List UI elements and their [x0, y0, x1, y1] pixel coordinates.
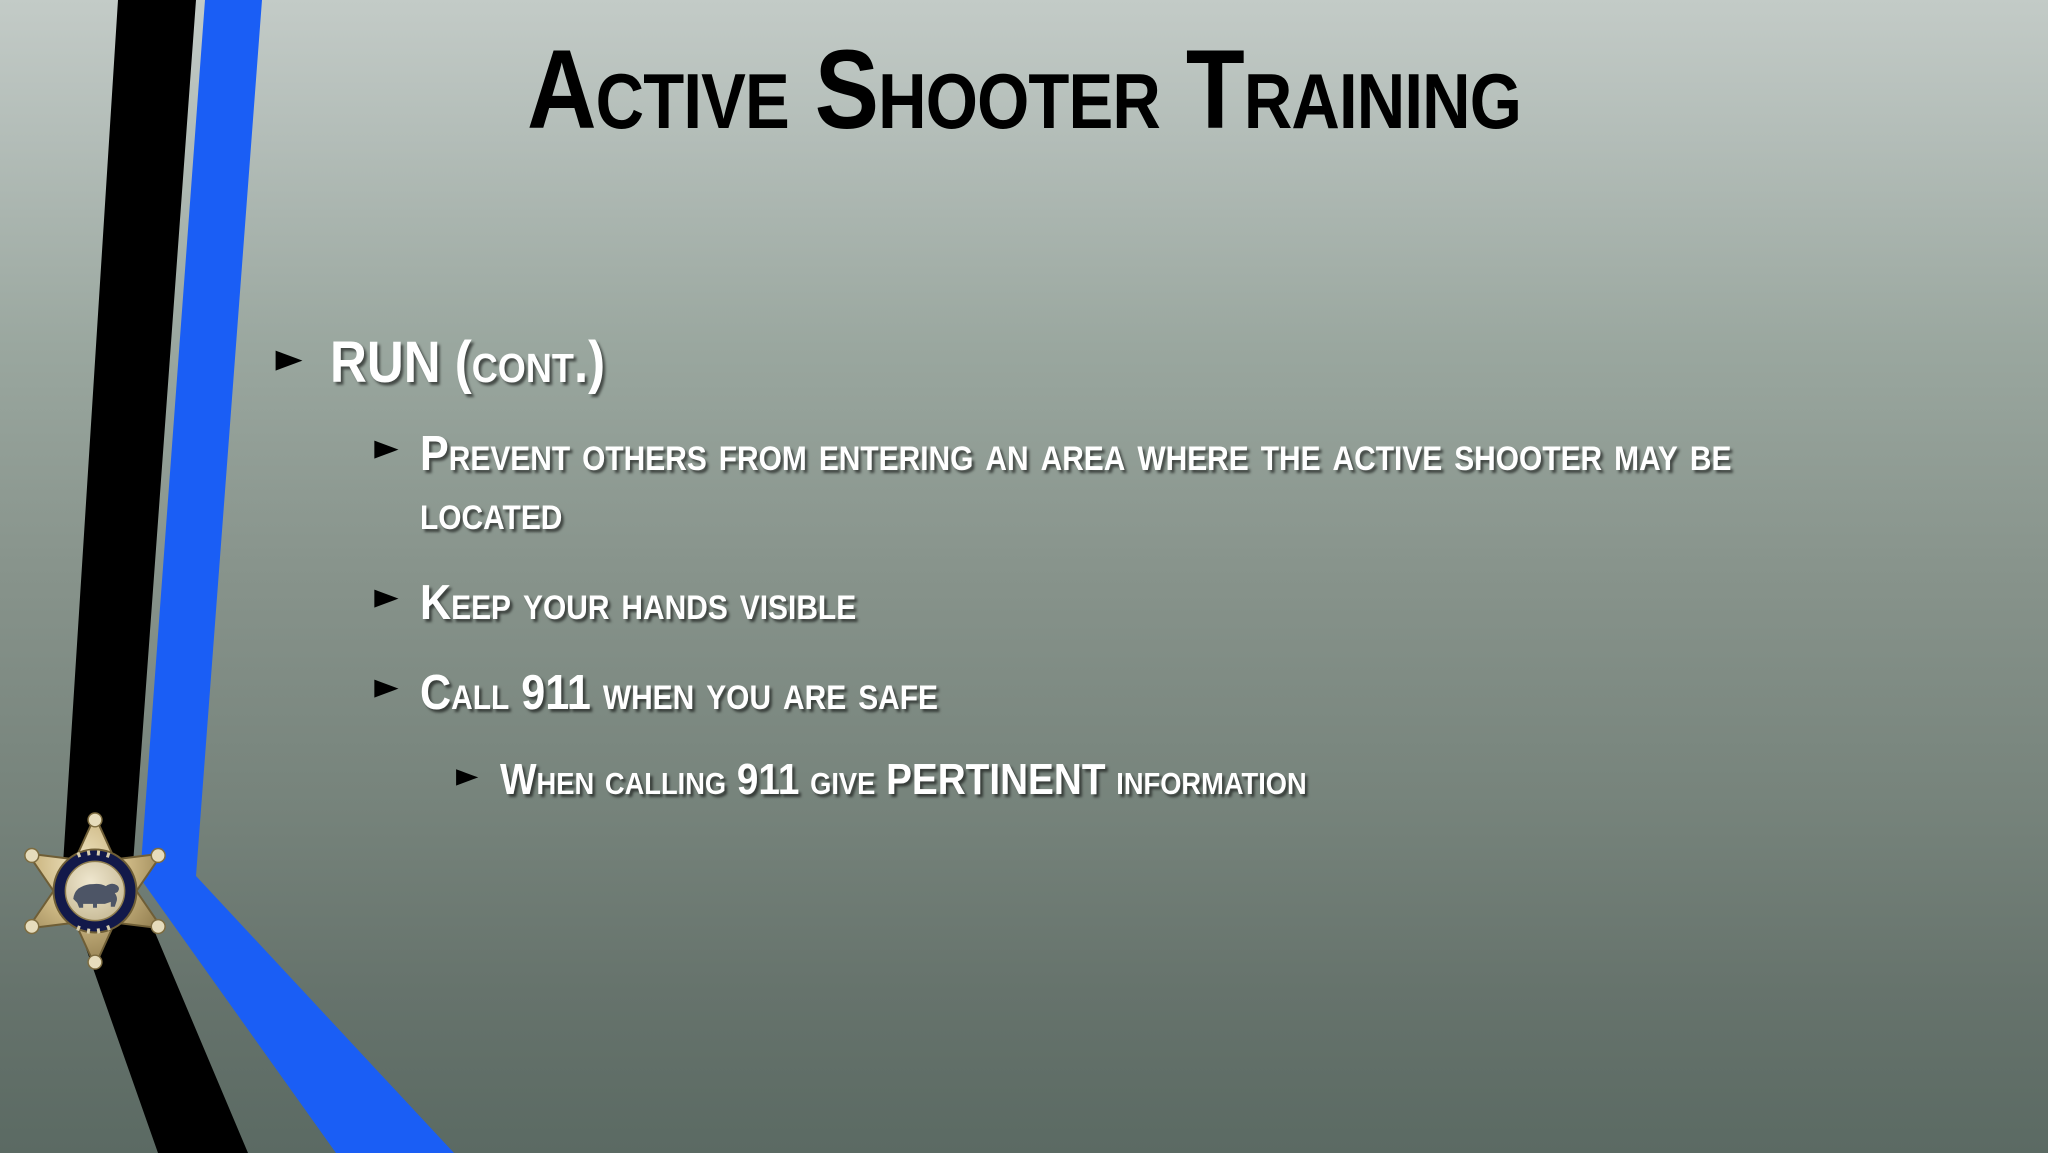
slide-canvas: Active Shooter Training ► RUN (cont.) ► … — [0, 0, 2048, 1153]
bullet-item-call-911: ► Call 911 when you are safe — [420, 664, 1793, 724]
bullet-item-pertinent-info: ► When calling 911 give PERTINENT inform… — [500, 754, 1802, 807]
bullet-list: ► RUN (cont.) ► Prevent others from ente… — [0, 330, 2048, 1030]
badge-tip-ball — [25, 849, 39, 863]
bullet-emphasis-911: 911 — [737, 755, 799, 804]
bullet-item-run-cont: ► RUN (cont.) — [330, 330, 1738, 397]
badge-tip-ball — [88, 813, 102, 827]
bullet-text-before: Call — [420, 666, 521, 720]
bullet-text-middle: give — [799, 755, 886, 804]
triangle-bullet-icon: ► — [456, 758, 478, 791]
bullet-text-after: when you are safe — [591, 666, 938, 720]
bullet-text: RUN (cont.) — [330, 330, 605, 395]
bullet-emphasis-911: 911 — [521, 666, 591, 720]
badge-tip-ball — [88, 955, 102, 969]
bullet-text-before: When calling — [500, 755, 737, 804]
bullet-text: Prevent others from entering an area whe… — [420, 427, 1731, 541]
bullet-text-after: information — [1106, 755, 1307, 804]
bullet-item-hands-visible: ► Keep your hands visible — [420, 574, 1793, 634]
bullet-text: Keep your hands visible — [420, 576, 856, 630]
badge-tip-ball — [151, 920, 165, 934]
bullet-emphasis-pertinent: PERTINENT — [886, 755, 1105, 804]
triangle-bullet-icon: ► — [374, 669, 398, 705]
badge-tip-ball — [151, 849, 165, 863]
page-title: Active Shooter Training — [143, 30, 1904, 151]
triangle-bullet-icon: ► — [374, 579, 398, 615]
triangle-bullet-icon: ► — [275, 338, 302, 378]
triangle-bullet-icon: ► — [374, 430, 398, 466]
sheriff-star-badge-icon — [16, 812, 174, 970]
bullet-item-prevent-others: ► Prevent others from entering an area w… — [420, 425, 1793, 545]
badge-tip-ball — [25, 920, 39, 934]
